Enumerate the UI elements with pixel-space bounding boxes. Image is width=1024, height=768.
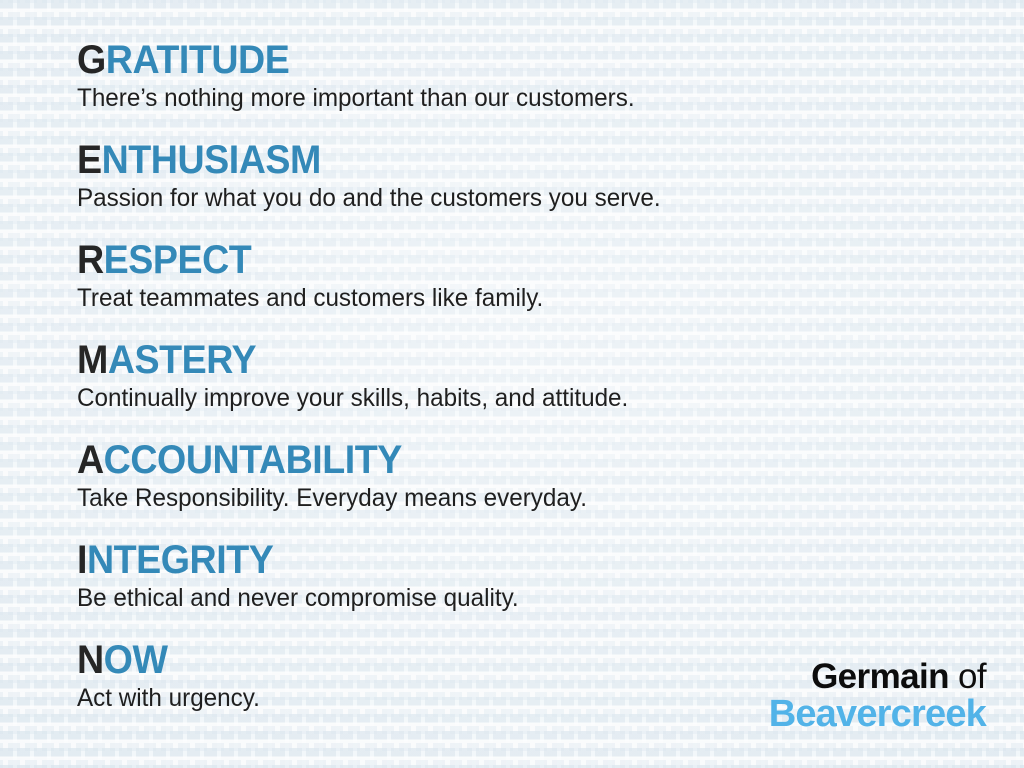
value-rest-letters: NTEGRITY [87, 538, 273, 582]
value-heading-gratitude: GRATITUDE [77, 38, 923, 82]
value-item-mastery: MASTERY Continually improve your skills,… [77, 338, 977, 422]
logo-connector-word: of [949, 657, 986, 696]
value-initial-letter: M [77, 338, 108, 382]
value-rest-letters: RATITUDE [106, 38, 290, 82]
value-heading-mastery: MASTERY [77, 338, 923, 382]
value-rest-letters: ASTERY [108, 338, 256, 382]
value-rest-letters: ESPECT [104, 238, 252, 282]
value-heading-accountability: ACCOUNTABILITY [77, 438, 923, 482]
value-heading-integrity: INTEGRITY [77, 538, 923, 582]
value-heading-respect: RESPECT [77, 238, 923, 282]
value-item-enthusiasm: ENTHUSIASM Passion for what you do and t… [77, 138, 977, 222]
value-item-accountability: ACCOUNTABILITY Take Responsibility. Ever… [77, 438, 977, 522]
dealership-logo: Germain of Beavercreek [769, 659, 986, 734]
logo-location-name: Beavercreek [769, 695, 986, 734]
values-poster: GRATITUDE There’s nothing more important… [0, 0, 1024, 768]
value-description-mastery: Continually improve your skills, habits,… [77, 383, 950, 413]
value-description-accountability: Take Responsibility. Everyday means ever… [77, 483, 950, 513]
value-initial-letter: G [77, 38, 106, 82]
value-item-gratitude: GRATITUDE There’s nothing more important… [77, 38, 977, 122]
value-rest-letters: OW [104, 638, 168, 682]
value-description-enthusiasm: Passion for what you do and the customer… [77, 183, 950, 213]
value-description-respect: Treat teammates and customers like famil… [77, 283, 950, 313]
value-initial-letter: R [77, 238, 104, 282]
value-rest-letters: CCOUNTABILITY [104, 438, 402, 482]
value-initial-letter: A [77, 438, 104, 482]
value-initial-letter: E [77, 138, 102, 182]
value-item-integrity: INTEGRITY Be ethical and never compromis… [77, 538, 977, 622]
logo-line-brand: Germain of [769, 659, 986, 695]
logo-brand-name: Germain [811, 657, 949, 696]
value-description-gratitude: There’s nothing more important than our … [77, 83, 950, 113]
core-values-list: GRATITUDE There’s nothing more important… [77, 38, 977, 722]
value-item-respect: RESPECT Treat teammates and customers li… [77, 238, 977, 322]
value-initial-letter: N [77, 638, 104, 682]
value-initial-letter: I [77, 538, 87, 582]
value-heading-enthusiasm: ENTHUSIASM [77, 138, 923, 182]
value-description-integrity: Be ethical and never compromise quality. [77, 583, 950, 613]
value-rest-letters: NTHUSIASM [102, 138, 321, 182]
